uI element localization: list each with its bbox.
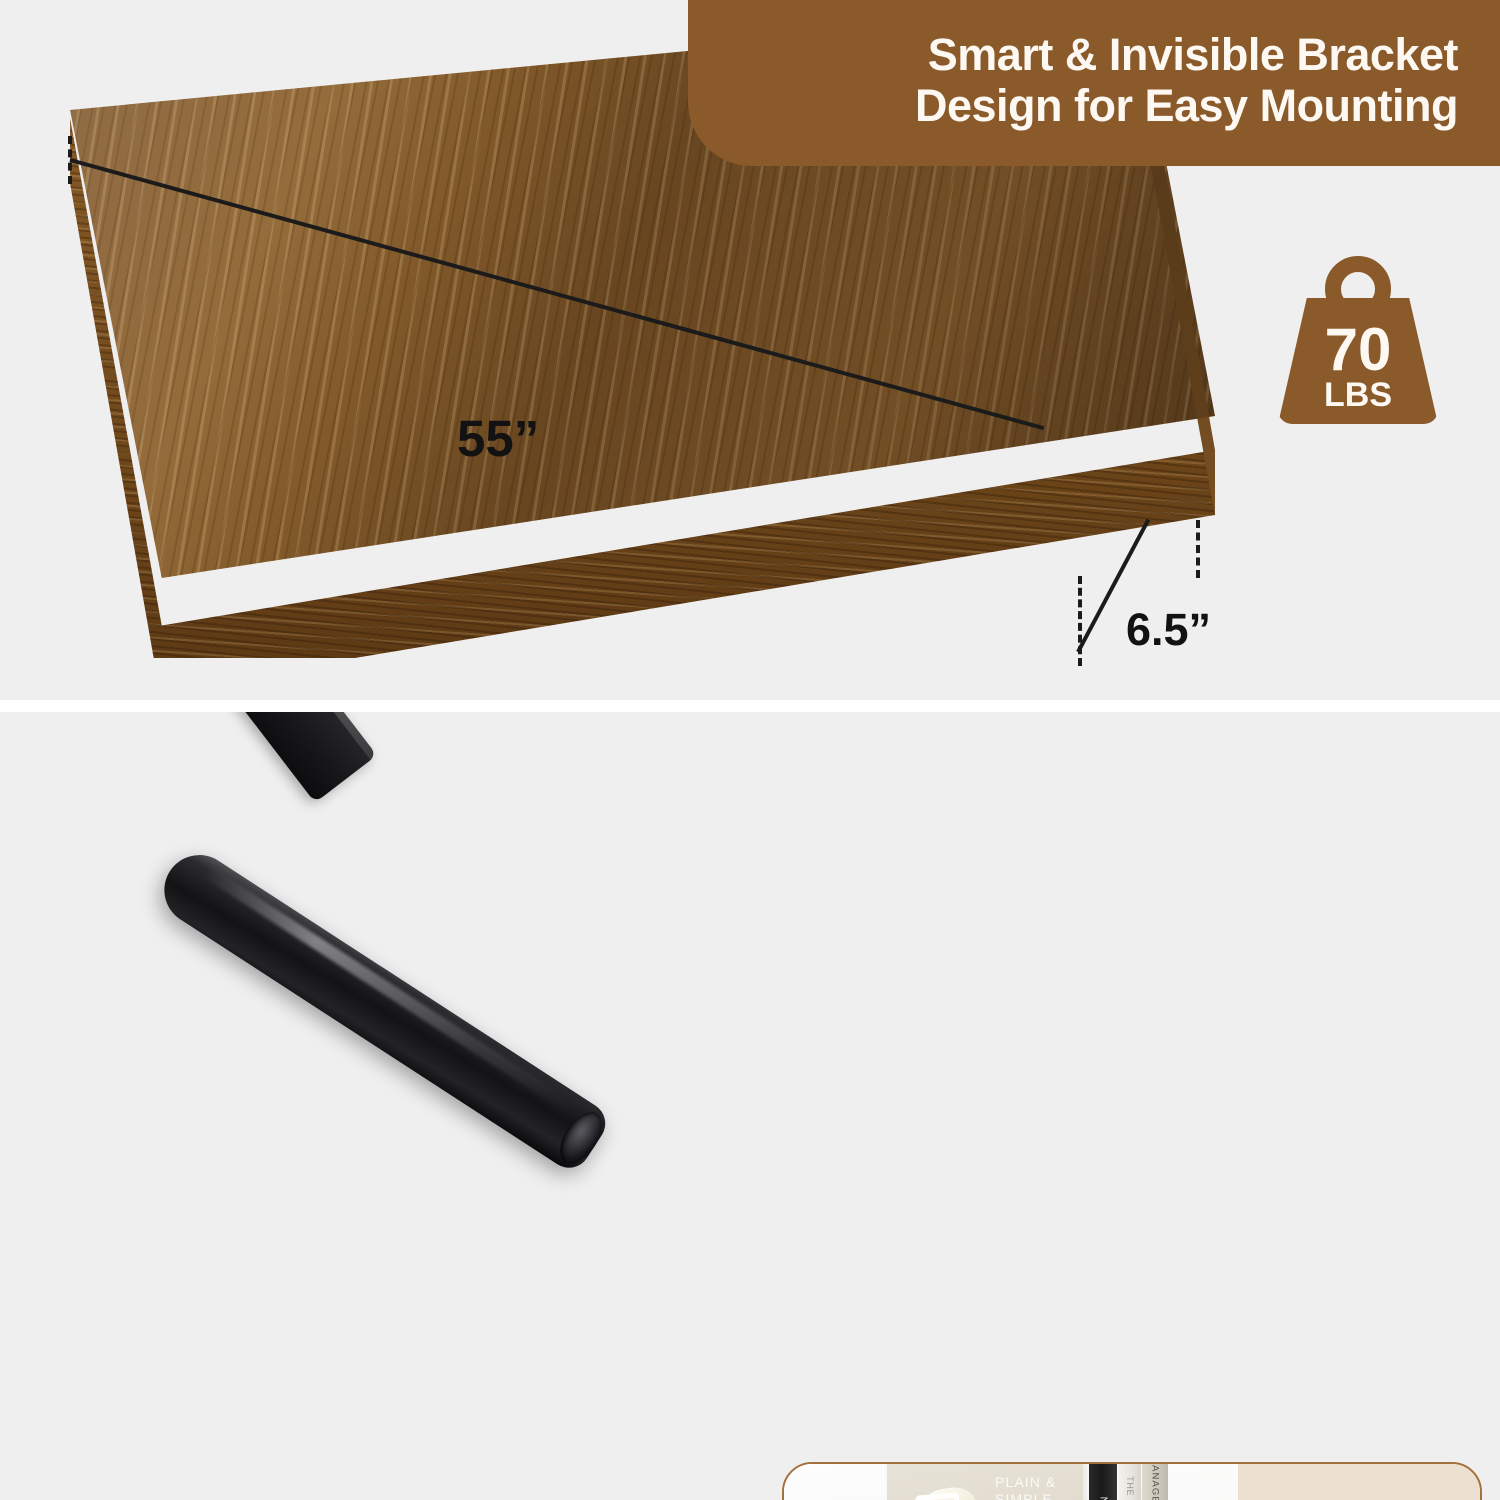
depth-dimension-label: 6.5”: [1126, 604, 1211, 656]
length-dimension-label: 55”: [457, 409, 539, 468]
ours-text-block: Ours DEEPER & THICKER Create more storag…: [1238, 1464, 1480, 1500]
weight-unit: LBS: [1278, 378, 1438, 414]
plate-edge-highlight: [115, 712, 377, 760]
book-cover-chair-illustration: [911, 1486, 989, 1500]
book-spine-beige: MANAGEMENT PLAIN & SIMPLE: [1142, 1464, 1168, 1500]
rod-open-end: [552, 1105, 610, 1171]
book-spine-dark: NO REST FOR THE WEARY: [1089, 1464, 1117, 1500]
bracket-photo-area: [0, 712, 770, 1500]
bracket-wall-plate: [59, 712, 377, 803]
depth-dimension-tick-right: [1196, 520, 1200, 578]
book-spine-white: THE STRANGER ALBERT CAMUS: [1118, 1464, 1141, 1500]
depth-dimension-tick-left: [1078, 576, 1082, 666]
weight-value: 70: [1278, 321, 1438, 379]
book-cover-plain-simple: PLAIN & SIMPLE KIM BRENNEMAN: [887, 1464, 1083, 1500]
headline-line-1: Smart & Invisible Bracket: [928, 29, 1458, 80]
product-dimensions-section: 55” 6.5” Smart & Invisible Bracket Desig…: [0, 0, 1500, 700]
book-spine-title: MANAGEMENT PLAIN & SIMPLE: [1150, 1464, 1161, 1500]
headline-banner: Smart & Invisible Bracket Design for Eas…: [688, 0, 1500, 166]
section-divider: [0, 700, 1500, 712]
book-title-line-1: PLAIN &: [995, 1474, 1056, 1490]
weight-icon-text: 70 LBS: [1278, 321, 1438, 414]
headline-line-2: Design for Easy Mounting: [915, 80, 1458, 131]
book-spine-title: THE STRANGER ALBERT CAMUS: [1125, 1476, 1135, 1500]
chair-back: [915, 1493, 963, 1500]
rod-gloss-highlight: [203, 866, 575, 1114]
ours-shelf-photo: PLAIN & SIMPLE KIM BRENNEMAN NO REST FOR…: [784, 1464, 1238, 1500]
weight-capacity-icon: 70 LBS: [1278, 256, 1438, 424]
comparison-panel-ours: PLAIN & SIMPLE KIM BRENNEMAN NO REST FOR…: [782, 1462, 1482, 1500]
book-cover-title: PLAIN & SIMPLE: [995, 1474, 1073, 1500]
bracket-support-rod: [151, 842, 613, 1176]
features-comparison-section: Made of Military Grade Iron Unique Rubbe…: [0, 712, 1500, 1500]
book-title-line-2: SIMPLE: [995, 1491, 1053, 1500]
